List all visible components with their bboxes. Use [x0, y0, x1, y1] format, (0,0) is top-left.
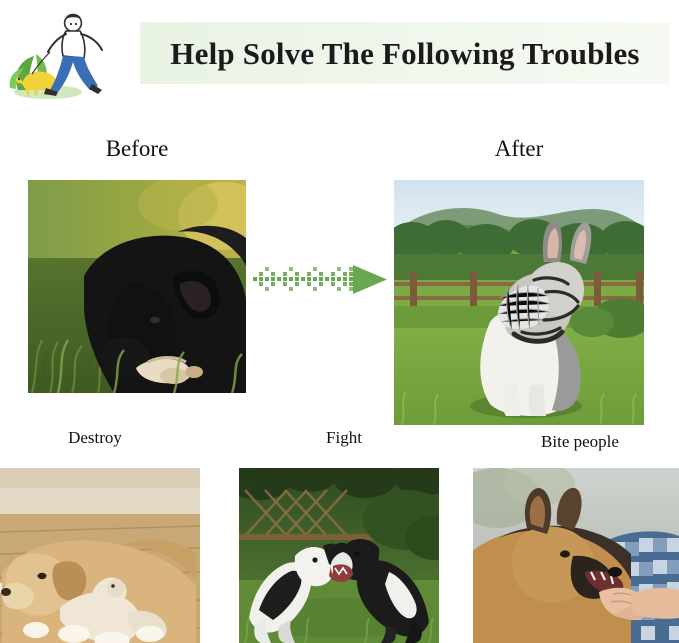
photo-dog-destroying-toy: [0, 468, 200, 643]
before-label: Before: [28, 136, 246, 162]
person-walking-dog-illustration: [6, 4, 140, 104]
caption-destroy: Destroy: [10, 428, 180, 448]
photo-two-dogs-fighting: [239, 468, 439, 643]
photo-dog-chewing-bone: [28, 180, 246, 393]
caption-bite-people: Bite people: [490, 432, 670, 452]
photo-dog-biting-hand: [473, 468, 679, 643]
caption-fight: Fight: [259, 428, 429, 448]
after-label: After: [394, 136, 644, 162]
photo-dog-wearing-muzzle: [394, 180, 644, 425]
dotted-arrow: [253, 263, 387, 299]
page-title: Help Solve The Following Troubles: [140, 30, 670, 78]
